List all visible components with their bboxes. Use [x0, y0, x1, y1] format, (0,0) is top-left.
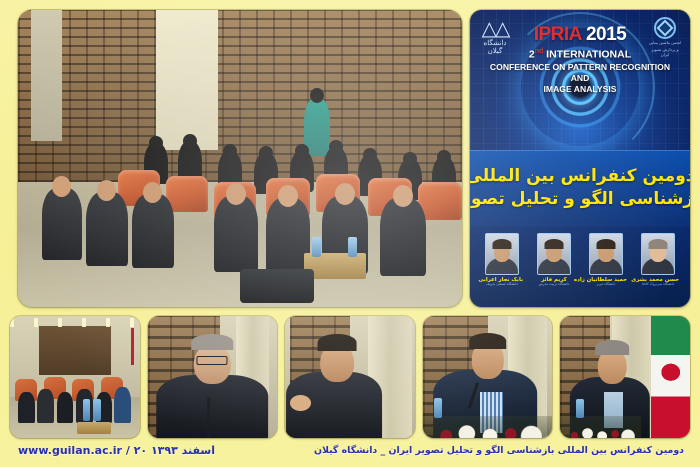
poster-hero: △△ دانشگاه گیلان انجمن ماشین بینایی و پر…: [470, 10, 690, 159]
speaker-hair: [649, 239, 668, 249]
speaker-hair: [318, 334, 357, 351]
front-row-attendee-head: [393, 185, 413, 207]
water-bottle: [312, 237, 321, 257]
website-url[interactable]: www.guilan.ac.ir: [18, 444, 122, 457]
speaker-hair: [545, 239, 564, 249]
poster-persian-title-band: دومین کنفرانس بین المللی بازشناسی الگو و…: [470, 150, 690, 227]
thumb-side-table: [77, 422, 111, 434]
poster-persian-line-1: دومین کنفرانس بین المللی: [470, 165, 690, 188]
thumb-audience-front-row[interactable]: [10, 316, 140, 438]
speaker-hair: [493, 239, 512, 249]
wooden-slat-wall: [18, 10, 462, 182]
thumb-speaker-gray-hair-glasses[interactable]: [148, 316, 278, 438]
poster-brand-line: IPRIA 2015: [470, 24, 690, 46]
speaker-affiliation: دانشگاه تربیت مدرس: [533, 283, 575, 287]
thumb-bottle: [83, 399, 91, 421]
speaker-card: كریم فائز دانشگاه تربیت مدرس: [533, 233, 575, 287]
auditorium-seat: [166, 176, 208, 212]
speaker-card: حسن محمد بشری دانشگاه شربروک کانادا: [637, 233, 679, 287]
poster-year: 2015: [586, 24, 626, 45]
speaker-portrait: [537, 233, 571, 275]
attendee-head: [329, 140, 343, 154]
speaker-affiliation: دانشگاه شربروک کانادا: [637, 283, 679, 287]
conference-poster: △△ دانشگاه گیلان انجمن ماشین بینایی و پر…: [470, 10, 690, 307]
poster-subtitle-line-2: CONFERENCE ON PATTERN RECOGNITION: [470, 62, 690, 72]
speaker-torso: [157, 375, 268, 438]
thumb-bottle: [93, 399, 101, 421]
footer-left: www.guilan.ac.ir / ۲۰ اسفند ۱۳۹۳: [18, 444, 215, 457]
front-row-attendee: [86, 192, 128, 266]
thumb-red-flag: [131, 328, 135, 365]
ceiling-lights: [10, 318, 140, 327]
thumb-speaker-with-iran-flag[interactable]: [560, 316, 690, 438]
thumb-bottle: [434, 398, 442, 419]
front-row-attendee: [380, 198, 426, 276]
flower-arrangement: [560, 416, 640, 438]
attendee-head: [363, 148, 377, 162]
water-bottle: [348, 237, 357, 257]
front-row-attendee: [132, 194, 174, 268]
front-row-attendee-head: [143, 182, 162, 203]
thumb-speaker-at-podium[interactable]: [423, 316, 553, 438]
thumb-bottle: [576, 399, 584, 419]
speaker-card: بابک نجار اعرابی دانشگاه صنعتی شریف: [481, 233, 523, 287]
poster-ordinal-suffix: nd: [535, 48, 544, 55]
front-row-attendee-head: [335, 183, 355, 205]
projection-panel: [156, 10, 218, 150]
speaker-hair: [597, 239, 616, 249]
footer-right-caption: دومین کنفرانس بین المللی بازشناسی الگو و…: [314, 445, 684, 456]
attendee-head: [259, 146, 273, 160]
speaker-affiliation: دانشگاه تبریز: [585, 283, 627, 287]
thumb-attendee: [18, 392, 35, 424]
auditorium-audience-photo: [18, 10, 462, 307]
poster-speakers-band: بابک نجار اعرابی دانشگاه صنعتی شریف كریم…: [470, 227, 690, 307]
front-row-attendee: [42, 188, 82, 260]
wall-pillar: [31, 10, 62, 141]
speaker-hair: [469, 333, 507, 349]
attendee-head: [223, 144, 237, 158]
thumb-attendee: [114, 387, 131, 424]
collage-page: △△ دانشگاه گیلان انجمن ماشین بینایی و پر…: [0, 0, 700, 467]
footer-separator: /: [126, 444, 130, 457]
thumb-attendee: [57, 392, 74, 424]
footer-bar: www.guilan.ac.ir / ۲۰ اسفند ۱۳۹۳ دومین ک…: [0, 438, 700, 467]
poster-subtitle-line-1: 2nd INTERNATIONAL: [470, 48, 690, 61]
front-row-attendee-head: [278, 185, 298, 207]
front-row-attendee-head: [52, 176, 71, 197]
poster-persian-line-2: بازشناسی الگو و تحلیل تصویر: [470, 188, 690, 211]
poster-title-block: IPRIA 2015 2nd INTERNATIONAL CONFERENCE …: [470, 24, 690, 94]
thumb-attendee: [37, 389, 54, 423]
microphone: [207, 397, 210, 438]
poster-subtitle-line-3: AND: [470, 73, 690, 83]
iran-flag: [651, 316, 690, 438]
speaker-hair: [192, 334, 233, 350]
event-date: ۲۰ اسفند ۱۳۹۳: [134, 444, 215, 457]
speaker-portrait: [641, 233, 675, 275]
thumb-speaker-dark-hair-gesturing[interactable]: [285, 316, 415, 438]
speaker-card: حمید سلطانیان زاده دانشگاه تبریز: [585, 233, 627, 287]
flower-arrangement: [423, 416, 553, 438]
attendee-head: [183, 134, 197, 148]
thumbnail-strip: [10, 316, 690, 438]
front-row-attendee-head: [97, 180, 116, 201]
speaker-portrait: [589, 233, 623, 275]
keynote-speakers-row: بابک نجار اعرابی دانشگاه صنعتی شریف كریم…: [470, 233, 690, 287]
attendee-head: [149, 136, 163, 150]
speaker-affiliation: دانشگاه صنعتی شریف: [481, 283, 523, 287]
speaker-hair: [595, 340, 629, 355]
standing-attendee-head: [310, 88, 324, 103]
laptop-bag: [240, 269, 314, 303]
attendee-head: [295, 144, 309, 158]
front-row-attendee-head: [226, 183, 246, 205]
attendee-head: [437, 150, 451, 164]
attendee-head: [403, 152, 417, 166]
stage-wall: [39, 326, 112, 375]
poster-brand: IPRIA: [534, 24, 581, 45]
speaker-portrait: [485, 233, 519, 275]
front-row-attendee: [214, 196, 258, 272]
poster-subtitle-line-4: IMAGE ANALYSIS: [470, 84, 690, 94]
eyeglasses: [197, 356, 228, 365]
poster-international: INTERNATIONAL: [546, 49, 631, 61]
